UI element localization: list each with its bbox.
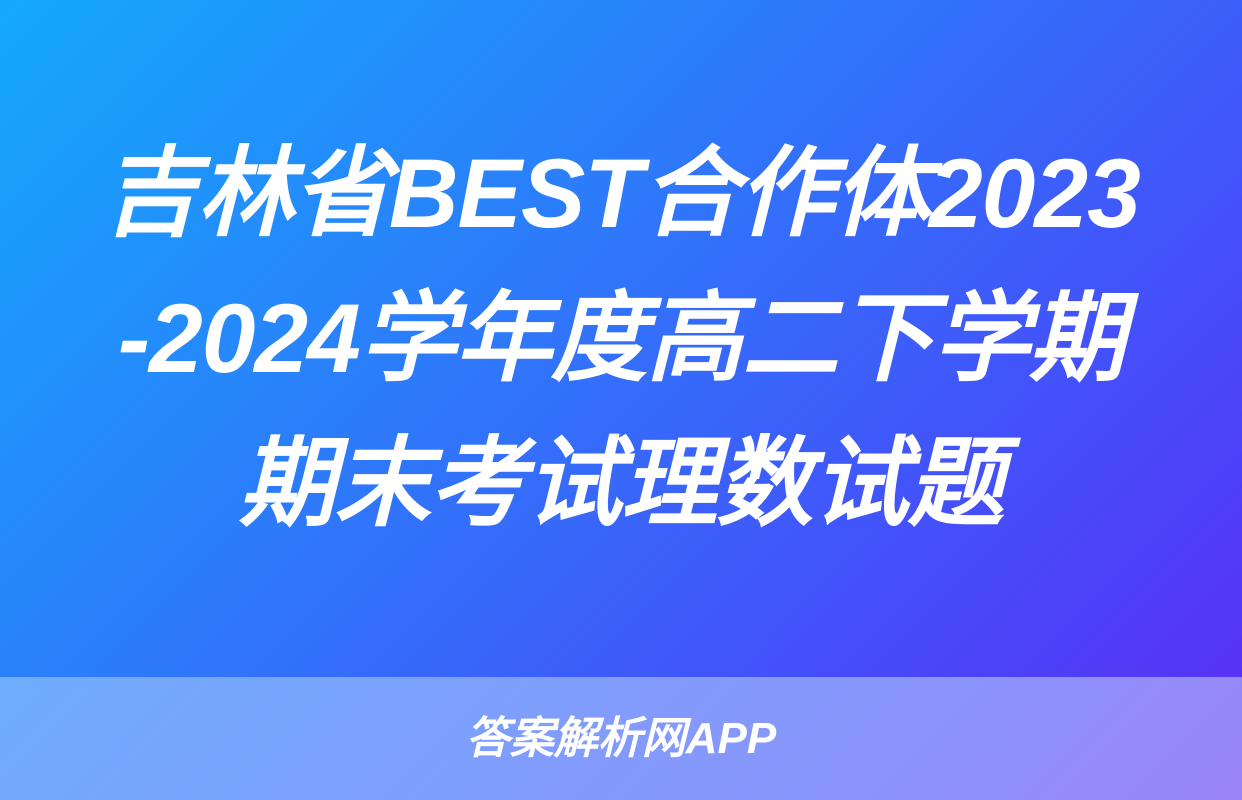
page-title: 吉林省BEST合作体2023 -2024学年度高二下学期 期末考试理数试题: [18, 121, 1224, 556]
brand-label: 答案解析网APP: [466, 711, 776, 767]
title-line-2: -2024学年度高二下学期: [27, 266, 1215, 411]
title-line-3: 期末考试理数试题: [27, 411, 1215, 556]
exam-cover-banner: 吉林省BEST合作体2023 -2024学年度高二下学期 期末考试理数试题 答案…: [0, 0, 1242, 800]
title-area: 吉林省BEST合作体2023 -2024学年度高二下学期 期末考试理数试题: [0, 0, 1242, 677]
footer-brand-band: 答案解析网APP: [0, 677, 1242, 800]
title-line-1: 吉林省BEST合作体2023: [27, 121, 1215, 266]
